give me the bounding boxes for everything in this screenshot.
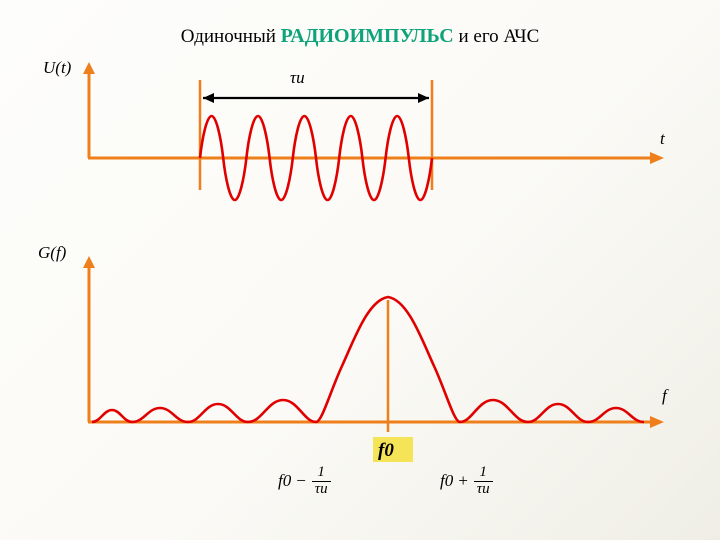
right-null-numerator: 1 bbox=[474, 465, 493, 482]
spectrum-curve bbox=[92, 297, 644, 422]
bottom-y-axis-arrowhead bbox=[83, 256, 95, 268]
right-null-denominator: τи bbox=[474, 482, 493, 498]
left-null-operator: − bbox=[295, 471, 306, 490]
right-null-fraction: 1τи bbox=[474, 465, 493, 498]
bottom-x-axis-arrowhead bbox=[650, 416, 664, 428]
right-null-frequency-label: f0+1τи bbox=[440, 466, 494, 499]
slide-canvas: Одиночный РАДИОИМПУЛЬС и его АЧС U(t) t … bbox=[0, 0, 720, 540]
slide-content: Одиночный РАДИОИМПУЛЬС и его АЧС U(t) t … bbox=[0, 0, 720, 540]
bottom-y-axis-label: G(f) bbox=[38, 243, 66, 263]
right-null-operator: + bbox=[457, 471, 468, 490]
left-null-base: f0 bbox=[278, 471, 291, 490]
left-null-fraction: 1τи bbox=[312, 465, 331, 498]
bottom-plot-graphic bbox=[0, 0, 720, 540]
left-null-denominator: τи bbox=[312, 482, 331, 498]
right-null-base: f0 bbox=[440, 471, 453, 490]
center-frequency-label: f0 bbox=[378, 440, 394, 462]
left-null-numerator: 1 bbox=[312, 465, 331, 482]
bottom-x-axis-label: f bbox=[662, 386, 667, 406]
left-null-frequency-label: f0−1τи bbox=[278, 466, 332, 499]
